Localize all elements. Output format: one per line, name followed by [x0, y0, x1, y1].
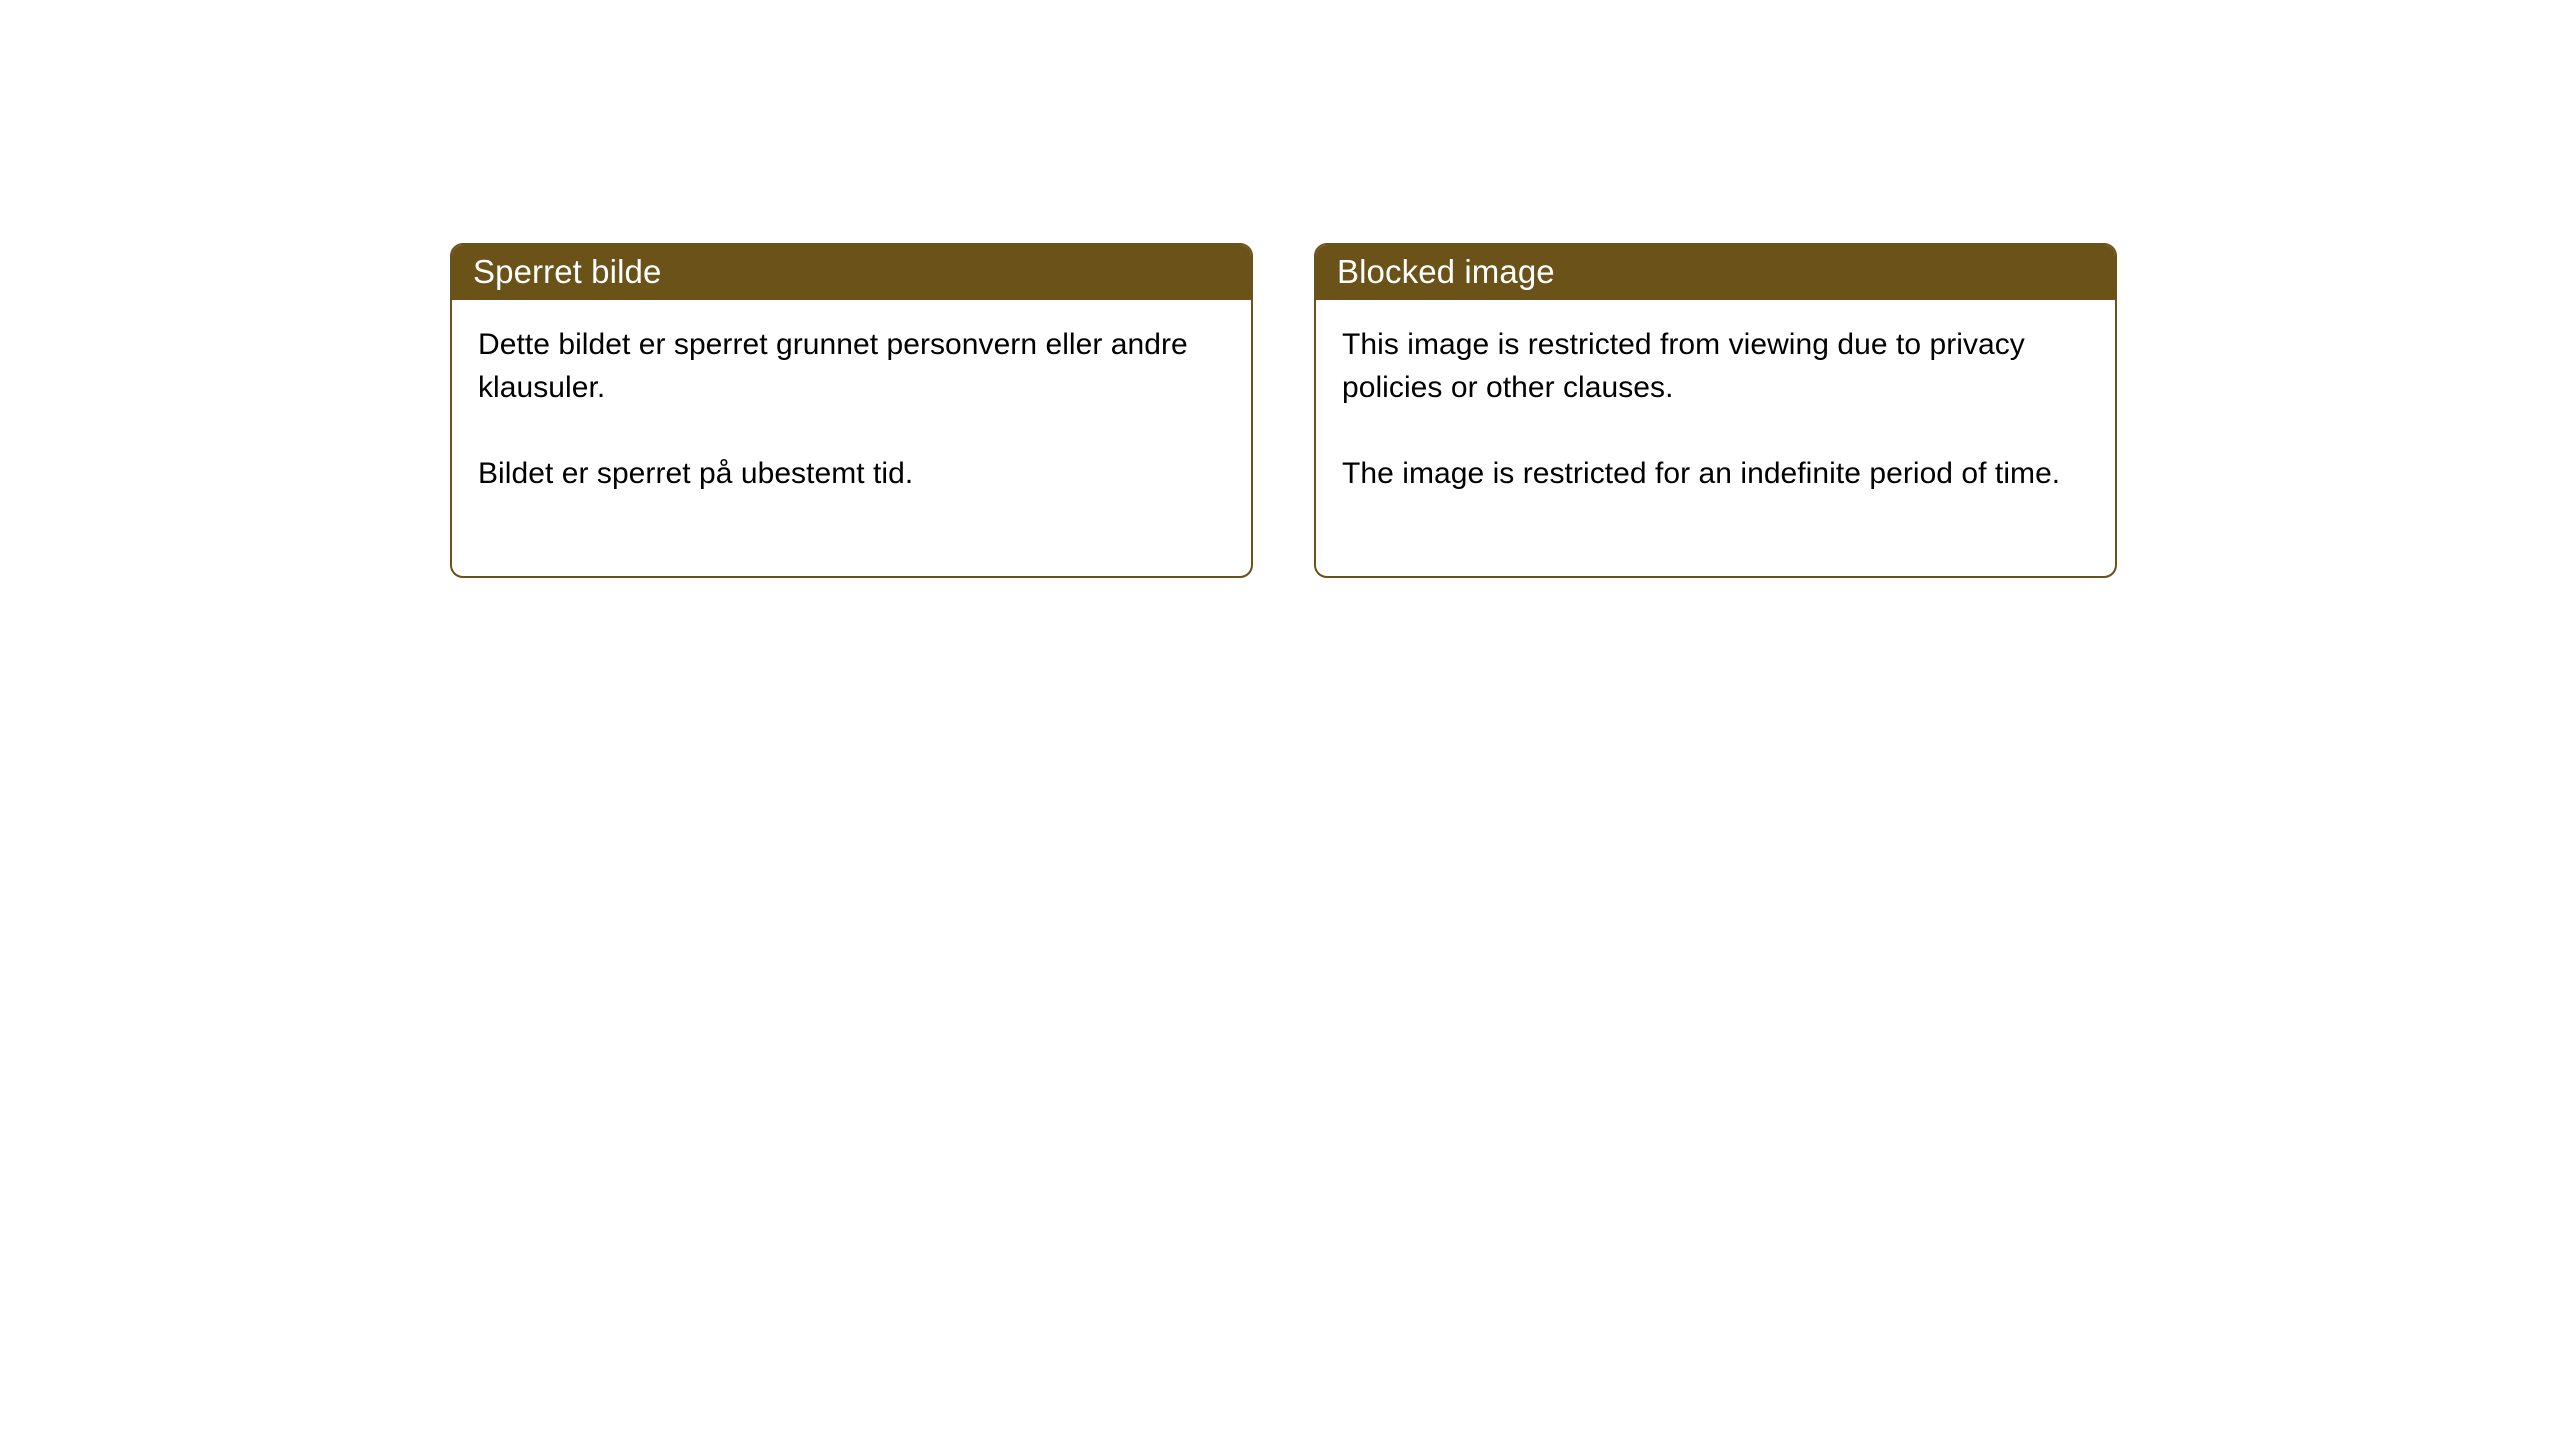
panel-title-en: Blocked image [1337, 254, 1555, 290]
page-canvas: Sperret bilde Dette bildet er sperret gr… [0, 0, 2560, 1440]
panel-body-no: Dette bildet er sperret grunnet personve… [452, 300, 1251, 495]
panel-paragraph-reason-no: Dette bildet er sperret grunnet personve… [478, 323, 1225, 409]
blocked-image-notice-en: Blocked image This image is restricted f… [1314, 243, 2117, 578]
blocked-image-notice-no: Sperret bilde Dette bildet er sperret gr… [450, 243, 1253, 578]
panel-title-no: Sperret bilde [473, 254, 661, 290]
panel-body-en: This image is restricted from viewing du… [1316, 300, 2115, 495]
panel-header-en: Blocked image [1314, 243, 2117, 300]
panel-header-no: Sperret bilde [450, 243, 1253, 300]
panel-paragraph-reason-en: This image is restricted from viewing du… [1342, 323, 2089, 409]
panel-paragraph-duration-en: The image is restricted for an indefinit… [1342, 452, 2089, 495]
panel-paragraph-duration-no: Bildet er sperret på ubestemt tid. [478, 452, 1225, 495]
